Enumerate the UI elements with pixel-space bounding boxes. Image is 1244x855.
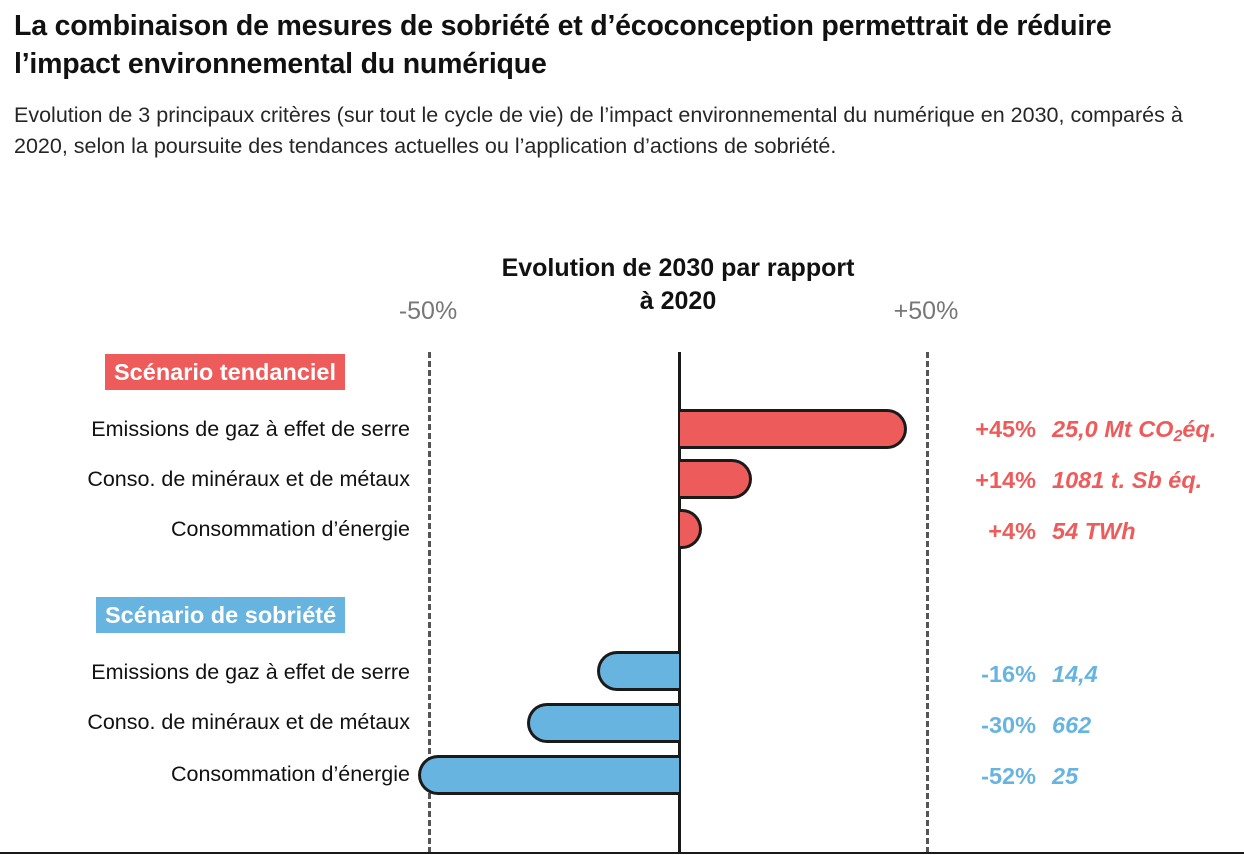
bar-trend-ges — [680, 409, 907, 449]
bar-trend-energie — [680, 509, 703, 549]
pct-sobriety-ges: -16% — [944, 661, 1036, 688]
chart-baseline — [0, 852, 1244, 854]
row-label-sobriety-energie: Consommation d’énergie — [0, 762, 410, 787]
badge-scenario-tendanciel: Scénario tendanciel — [105, 354, 345, 390]
page-subtitle: Evolution de 3 principaux critères (sur … — [14, 100, 1214, 163]
pct-trend-energie: +4% — [944, 518, 1036, 545]
unit-sobriety-ges: 14,4 — [1052, 661, 1244, 688]
row-label-trend-ges: Emissions de gaz à effet de serre — [0, 417, 410, 442]
axis-tick-plus-50: +50% — [851, 297, 1001, 326]
axis-title: Evolution de 2030 par rapport à 2020 — [498, 252, 858, 319]
bar-sobriety-energie — [418, 755, 680, 795]
header: La combinaison de mesures de sobriété et… — [0, 0, 1244, 163]
row-label-sobriety-ges: Emissions de gaz à effet de serre — [0, 660, 410, 685]
unit-trend-energie: 54 TWh — [1052, 518, 1244, 545]
pct-sobriety-energie: -52% — [944, 763, 1036, 790]
unit-sobriety-energie: 25 — [1052, 763, 1244, 790]
bar-sobriety-ges — [597, 651, 680, 691]
row-label-trend-mineraux: Conso. de minéraux et de métaux — [0, 467, 410, 492]
badge-scenario-sobriete: Scénario de sobriété — [96, 597, 345, 633]
unit-trend-ges: 25,0 Mt CO2éq. — [1052, 416, 1244, 443]
bar-sobriety-mineraux — [527, 703, 679, 743]
unit-tail: éq. — [1182, 416, 1216, 442]
pct-trend-ges: +45% — [944, 416, 1036, 443]
row-label-sobriety-mineraux: Conso. de minéraux et de métaux — [0, 710, 410, 735]
pct-sobriety-mineraux: -30% — [944, 712, 1036, 739]
row-label-trend-energie: Consommation d’énergie — [0, 517, 410, 542]
unit-sobriety-mineraux: 662 — [1052, 712, 1244, 739]
gridline-plus-50 — [926, 352, 929, 853]
axis-tick-minus-50: -50% — [353, 297, 503, 326]
bar-trend-mineraux — [680, 459, 753, 499]
pct-trend-mineraux: +14% — [944, 467, 1036, 494]
unit-main: 25,0 Mt CO — [1052, 416, 1173, 442]
unit-trend-mineraux: 1081 t. Sb éq. — [1052, 467, 1244, 494]
unit-sub: 2 — [1173, 428, 1182, 445]
page-title: La combinaison de mesures de sobriété et… — [14, 8, 1194, 84]
